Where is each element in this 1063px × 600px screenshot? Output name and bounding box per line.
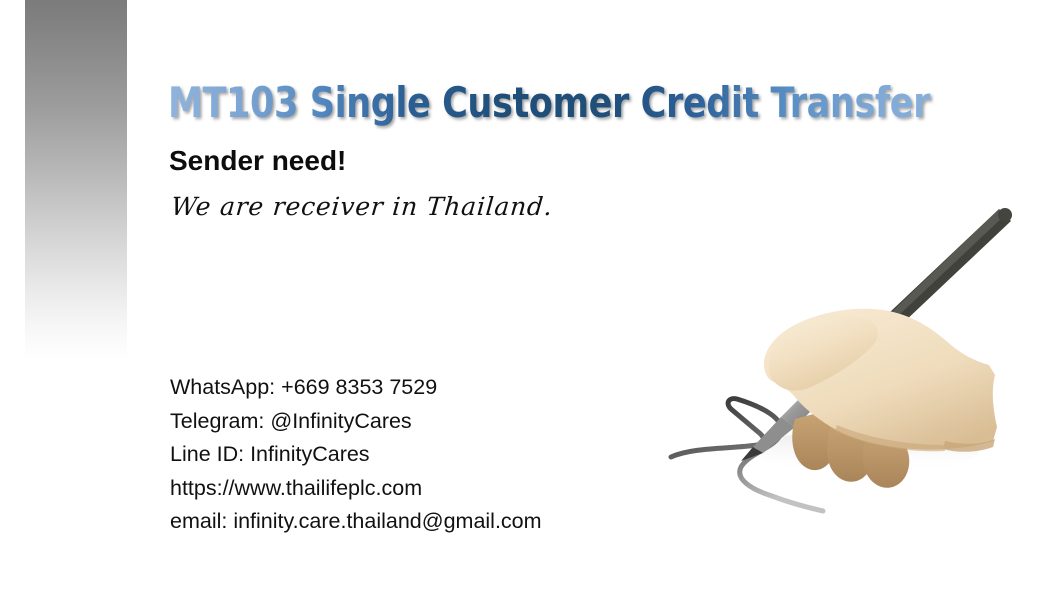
- sidebar-gradient-bar: [25, 0, 127, 360]
- headline-text: Sender need!: [169, 145, 346, 177]
- script-subtitle-text: We are receiver in Thailand.: [170, 192, 554, 221]
- contact-line-telegram: Telegram: @InfinityCares: [170, 405, 690, 439]
- slide-canvas: MT103 Single Customer Credit Transfer Se…: [0, 0, 1063, 600]
- contact-line-whatsapp: WhatsApp: +669 8353 7529: [170, 371, 690, 405]
- contact-line-email[interactable]: email: infinity.care.thailand@gmail.com: [170, 505, 690, 539]
- contact-line-lineid: Line ID: InfinityCares: [170, 438, 690, 472]
- hand-writing-illustration: [645, 195, 1045, 535]
- page-title: MT103 Single Customer Credit Transfer: [168, 78, 968, 127]
- contact-line-website[interactable]: https://www.thailifeplc.com: [170, 472, 690, 506]
- pen-cap-end: [998, 208, 1012, 222]
- contact-info-block: WhatsApp: +669 8353 7529 Telegram: @Infi…: [170, 371, 690, 539]
